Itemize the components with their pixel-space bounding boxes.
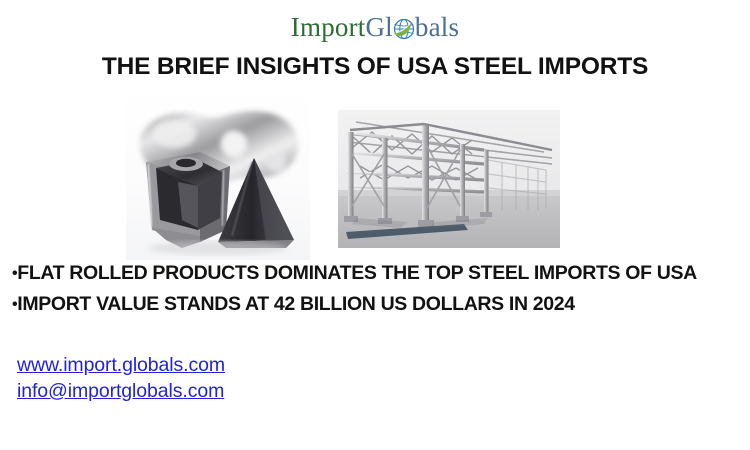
logo-text-bals: bals <box>415 12 459 42</box>
list-item-label: IMPORT VALUE STANDS AT 42 BILLION US DOL… <box>17 293 574 315</box>
email-link[interactable]: info@importglobals.com <box>17 378 225 404</box>
page-title: THE BRIEF INSIGHTS OF USA STEEL IMPORTS <box>0 53 750 81</box>
list-item-label: FLAT ROLLED PRODUCTS DOMINATES THE TOP S… <box>17 262 697 284</box>
logo-text-import: Import <box>291 12 366 42</box>
logo-text-gl: Gl <box>365 12 392 42</box>
steel-castings-photo <box>126 90 310 260</box>
globe-icon <box>393 18 415 40</box>
steel-frame-photo <box>338 110 560 248</box>
key-points-list: •FLAT ROLLED PRODUCTS DOMINATES THE TOP … <box>12 258 750 320</box>
list-item: •IMPORT VALUE STANDS AT 42 BILLION US DO… <box>12 289 750 320</box>
list-item: •FLAT ROLLED PRODUCTS DOMINATES THE TOP … <box>12 258 750 289</box>
contact-block: www.import.globals.com info@importglobal… <box>17 352 225 404</box>
brand-logo[interactable]: ImportGl bals <box>0 14 750 41</box>
website-link[interactable]: www.import.globals.com <box>17 352 225 378</box>
